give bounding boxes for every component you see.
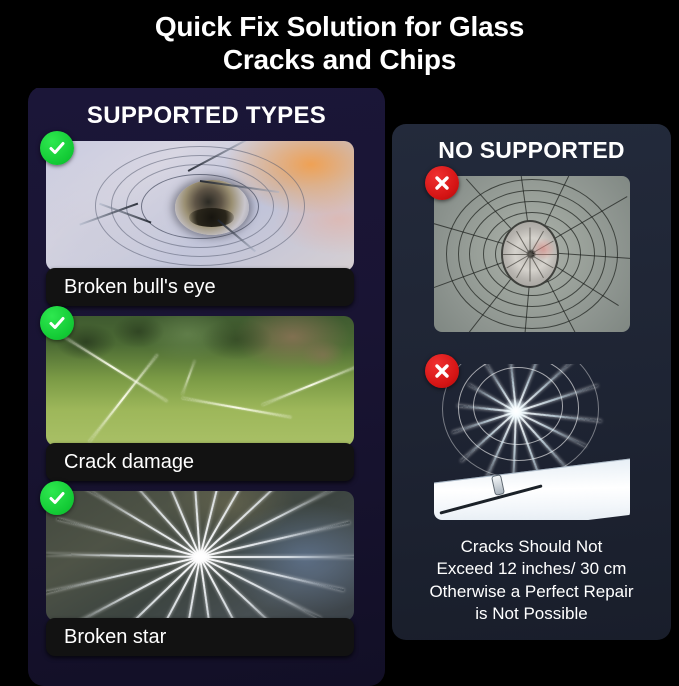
x-circle-icon: [425, 354, 459, 388]
warning-line-3: Otherwise a Perfect Repair: [398, 581, 665, 604]
crack-damage-photo: [46, 316, 354, 446]
warning-line-2: Exceed 12 inches/ 30 cm: [398, 558, 665, 581]
page-title-line-2: Cracks and Chips: [223, 44, 456, 77]
x-circle-icon: [425, 166, 459, 200]
page-header: Quick Fix Solution for Glass Cracks and …: [0, 0, 679, 88]
bullseye-chip-photo: [46, 141, 354, 271]
card-shattered-windshield[interactable]: [434, 364, 630, 520]
warning-line-1: Cracks Should Not: [398, 536, 665, 559]
card-crack-damage[interactable]: Crack damage: [46, 316, 354, 481]
check-circle-icon: [40, 481, 74, 515]
card-caption-broken-bulls-eye: Broken bull's eye: [46, 268, 354, 306]
supported-types-panel: SUPPORTED TYPES Broken bull's eye: [28, 86, 385, 686]
page-title-line-1: Quick Fix Solution for Glass: [155, 11, 524, 44]
card-caption-broken-star: Broken star: [46, 618, 354, 656]
check-circle-icon: [40, 131, 74, 165]
check-circle-icon: [40, 306, 74, 340]
card-broken-star[interactable]: Broken star: [46, 491, 354, 656]
card-shattered-spiderweb[interactable]: [434, 176, 630, 332]
warning-line-4: is Not Possible: [398, 603, 665, 626]
card-broken-bulls-eye[interactable]: Broken bull's eye: [46, 141, 354, 306]
shattered-spiderweb-photo: [434, 176, 630, 332]
shattered-windshield-photo: [434, 364, 630, 520]
card-caption-crack-damage: Crack damage: [46, 443, 354, 481]
unsupported-types-title: NO SUPPORTED: [392, 137, 671, 164]
crack-size-warning: Cracks Should Not Exceed 12 inches/ 30 c…: [392, 536, 671, 626]
supported-types-title: SUPPORTED TYPES: [28, 102, 385, 130]
unsupported-types-panel: NO SUPPORTED: [392, 124, 671, 640]
broken-star-photo: [46, 491, 354, 621]
